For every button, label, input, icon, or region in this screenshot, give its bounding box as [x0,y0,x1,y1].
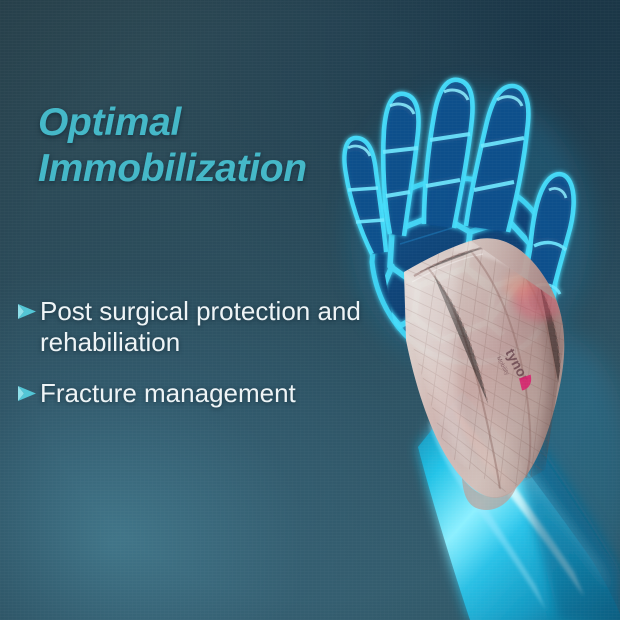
headline-line-2: Immobilization [38,146,368,192]
list-item-label: Post surgical protection and rehabiliati… [40,296,406,358]
benefit-list: Post surgical protection and rehabiliati… [14,296,406,429]
arrowhead-right-icon [14,299,40,329]
slide-canvas: tynor Mobility Optimal Immobilization Po… [0,0,620,620]
list-item: Fracture management [14,378,406,409]
list-item-label: Fracture management [40,378,296,409]
arrowhead-right-icon [14,381,40,411]
list-item: Post surgical protection and rehabiliati… [14,296,406,358]
page-title: Optimal Immobilization [38,100,368,192]
headline-line-1: Optimal [38,101,181,144]
